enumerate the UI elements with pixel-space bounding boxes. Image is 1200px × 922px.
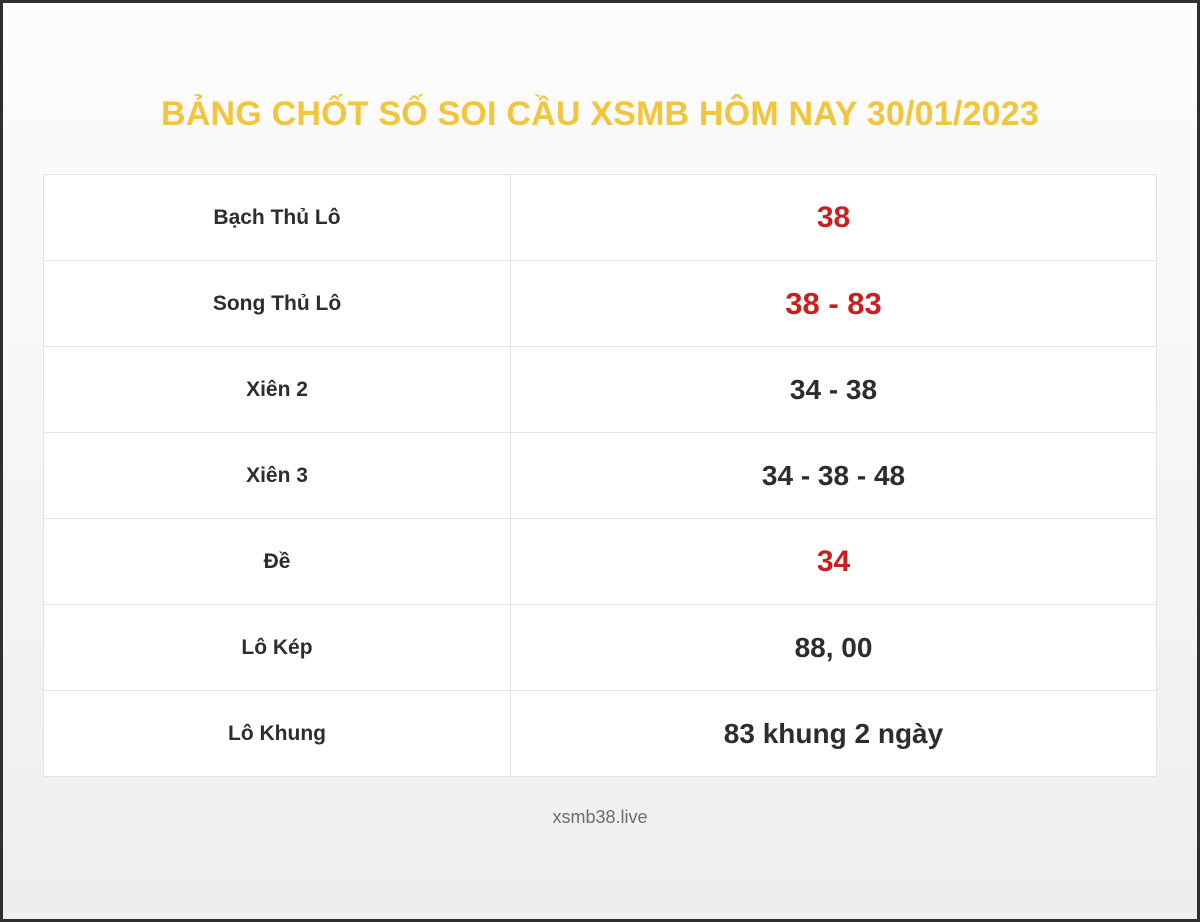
- table-row: Song Thủ Lô 38 - 83: [44, 261, 1157, 347]
- row-label-song-thu-lo: Song Thủ Lô: [44, 261, 511, 347]
- footer-site-label: xsmb38.live: [552, 807, 647, 828]
- row-value-de: 34: [511, 519, 1157, 605]
- chot-so-table: Bạch Thủ Lô 38 Song Thủ Lô 38 - 83 Xiên …: [43, 174, 1157, 777]
- page-title: BẢNG CHỐT SỐ SOI CẦU XSMB HÔM NAY 30/01/…: [161, 97, 1039, 131]
- table-row: Xiên 3 34 - 38 - 48: [44, 433, 1157, 519]
- chot-so-table-wrap: Bạch Thủ Lô 38 Song Thủ Lô 38 - 83 Xiên …: [43, 174, 1157, 777]
- screenshot-canvas: BẢNG CHỐT SỐ SOI CẦU XSMB HÔM NAY 30/01/…: [3, 3, 1197, 919]
- row-label-xien-2: Xiên 2: [44, 347, 511, 433]
- row-value-bach-thu-lo: 38: [511, 175, 1157, 261]
- row-value-lo-khung: 83 khung 2 ngày: [511, 691, 1157, 777]
- table-body: Bạch Thủ Lô 38 Song Thủ Lô 38 - 83 Xiên …: [44, 175, 1157, 777]
- row-value-lo-kep: 88, 00: [511, 605, 1157, 691]
- table-row: Lô Kép 88, 00: [44, 605, 1157, 691]
- row-label-xien-3: Xiên 3: [44, 433, 511, 519]
- table-row: Đề 34: [44, 519, 1157, 605]
- row-label-lo-khung: Lô Khung: [44, 691, 511, 777]
- row-value-xien-3: 34 - 38 - 48: [511, 433, 1157, 519]
- table-row: Bạch Thủ Lô 38: [44, 175, 1157, 261]
- table-row: Lô Khung 83 khung 2 ngày: [44, 691, 1157, 777]
- row-label-de: Đề: [44, 519, 511, 605]
- row-label-bach-thu-lo: Bạch Thủ Lô: [44, 175, 511, 261]
- row-value-song-thu-lo: 38 - 83: [511, 261, 1157, 347]
- row-label-lo-kep: Lô Kép: [44, 605, 511, 691]
- row-value-xien-2: 34 - 38: [511, 347, 1157, 433]
- table-row: Xiên 2 34 - 38: [44, 347, 1157, 433]
